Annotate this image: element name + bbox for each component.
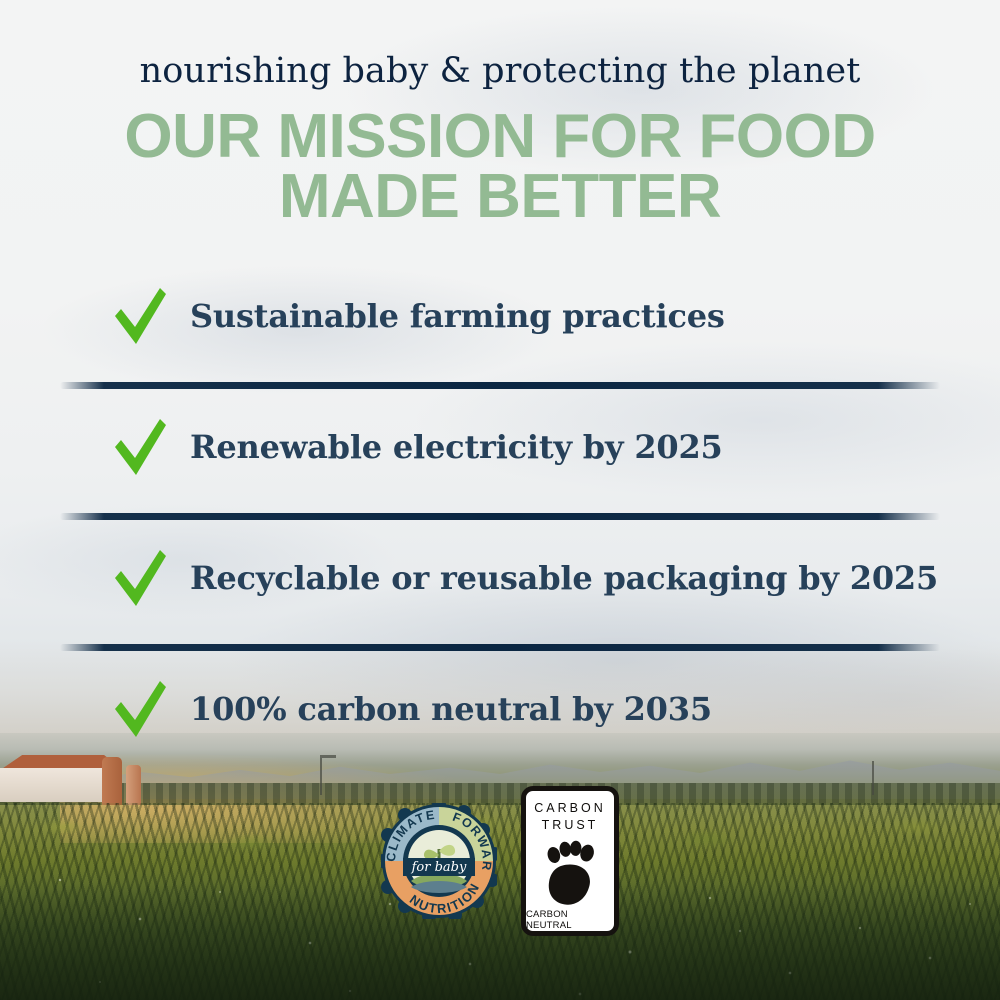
- footprint-icon: [540, 836, 600, 906]
- page-title: OUR MISSION FOR FOOD MADE BETTER: [0, 107, 1000, 229]
- checkmark-icon: [112, 547, 168, 609]
- list-item: Renewable electricity by 2025: [0, 399, 1000, 530]
- checkmark-icon: [112, 285, 168, 347]
- list-item: 100% carbon neutral by 2035: [0, 661, 1000, 792]
- row-divider: [60, 644, 940, 651]
- page-title-line-2: MADE BETTER: [0, 167, 1000, 228]
- certification-badges: for baby CLIMATE FORWARD NUTRITION CARBO…: [0, 786, 1000, 936]
- carbon-trust-badge: CARBON TRUST CARBON NEUTRAL: [521, 786, 619, 936]
- list-item-label: 100% carbon neutral by 2035: [190, 690, 712, 728]
- row-divider: [60, 382, 940, 389]
- carbon-trust-line-1: CARBON: [534, 800, 605, 817]
- list-item: Recyclable or reusable packaging by 2025: [0, 530, 1000, 661]
- list-item-label: Renewable electricity by 2025: [190, 428, 723, 466]
- checkmark-icon: [112, 678, 168, 740]
- list-item-label: Recyclable or reusable packaging by 2025: [190, 559, 938, 597]
- seal-center-text: for baby: [411, 860, 467, 875]
- carbon-trust-line-2: TRUST: [542, 817, 599, 834]
- mission-list: Sustainable farming practices Renewable …: [0, 268, 1000, 792]
- page-title-line-1: OUR MISSION FOR FOOD: [124, 102, 875, 171]
- list-item: Sustainable farming practices: [0, 268, 1000, 399]
- carbon-trust-caption: CARBON NEUTRAL: [526, 909, 614, 931]
- eyebrow-tagline: nourishing baby & protecting the planet: [0, 52, 1000, 91]
- climate-forward-nutrition-seal: for baby CLIMATE FORWARD NUTRITION: [381, 803, 497, 919]
- checkmark-icon: [112, 416, 168, 478]
- header-block: nourishing baby & protecting the planet …: [0, 52, 1000, 228]
- row-divider: [60, 513, 940, 520]
- list-item-label: Sustainable farming practices: [190, 297, 725, 335]
- marketing-infographic: nourishing baby & protecting the planet …: [0, 0, 1000, 1000]
